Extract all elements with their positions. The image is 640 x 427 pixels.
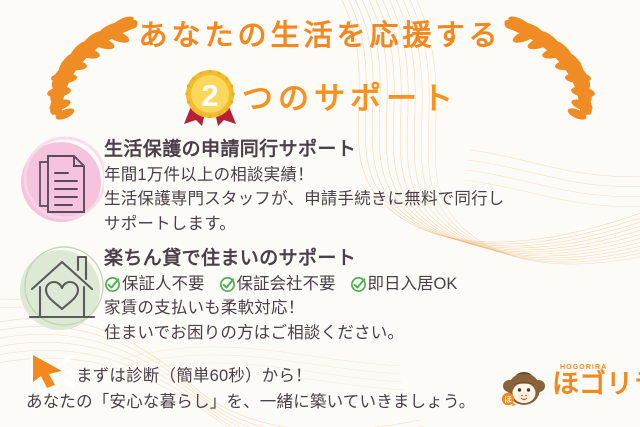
house-heart-icon [18, 245, 104, 337]
support-title: 楽ちん貸で住まいのサポート [104, 247, 628, 270]
check-circle-icon [104, 276, 121, 293]
support-title: 生活保護の申請同行サポート [104, 138, 628, 161]
support-text-block: 楽ちん貸で住まいのサポート 保証人不要 [104, 245, 628, 345]
banner-header: あなたの生活を応援する [0, 0, 640, 128]
headline-line-2-row: 2 つのサポート [0, 68, 640, 128]
medal-badge-icon: 2 [182, 68, 238, 128]
support-check-list: 保証人不要 保証会社不要 [104, 272, 628, 296]
gorilla-mascot-icon: ほ [502, 368, 546, 410]
headline-line-2-text: つのサポート [242, 83, 458, 114]
check-circle-icon [350, 276, 367, 293]
mascot-bubble-text: ほ [504, 395, 512, 404]
support-item-housing: 楽ちん貸で住まいのサポート 保証人不要 [18, 245, 628, 345]
brand-logo[interactable]: ほ HOGORIRA ほゴリラ [502, 364, 632, 412]
support-item-welfare-application: 生活保護の申請同行サポート 年間1万件以上の相談実績！ 生活保護専門スタッフが、… [18, 136, 628, 236]
support-line: サポートします。 [104, 212, 628, 236]
check-label: 即日入居OK [368, 272, 458, 296]
promo-banner: あなたの生活を応援する [0, 0, 640, 427]
support-line: 家賃の支払いも柔軟対応！ [104, 296, 628, 320]
banner-footer: まずは診断（簡単60秒）から！ あなたの「安心な暮らし」を、一緒に築いていきまし… [0, 348, 640, 427]
check-item: 保証人不要 [104, 272, 205, 296]
medal-number: 2 [201, 78, 218, 113]
support-line: 生活保護専門スタッフが、申請手続きに無料で同行し [104, 187, 628, 211]
footer-line-2: あなたの「安心な暮らし」を、一緒に築いていきましょう。 [26, 388, 475, 412]
support-text-block: 生活保護の申請同行サポート 年間1万件以上の相談実績！ 生活保護専門スタッフが、… [104, 136, 628, 236]
check-label: 保証会社不要 [237, 272, 336, 296]
check-label: 保証人不要 [122, 272, 205, 296]
check-item: 保証会社不要 [219, 272, 336, 296]
check-circle-icon [219, 276, 236, 293]
support-line: 住まいでお困りの方はご相談ください。 [104, 321, 628, 345]
check-item: 即日入居OK [350, 272, 458, 296]
support-line: 年間1万件以上の相談実績！ [104, 163, 628, 187]
documents-icon [18, 136, 104, 228]
headline-line-1: あなたの生活を応援する [0, 22, 640, 51]
footer-line-1: まずは診断（簡単60秒）から！ [76, 362, 312, 386]
logo-wordmark: ほゴリラ [552, 371, 640, 398]
